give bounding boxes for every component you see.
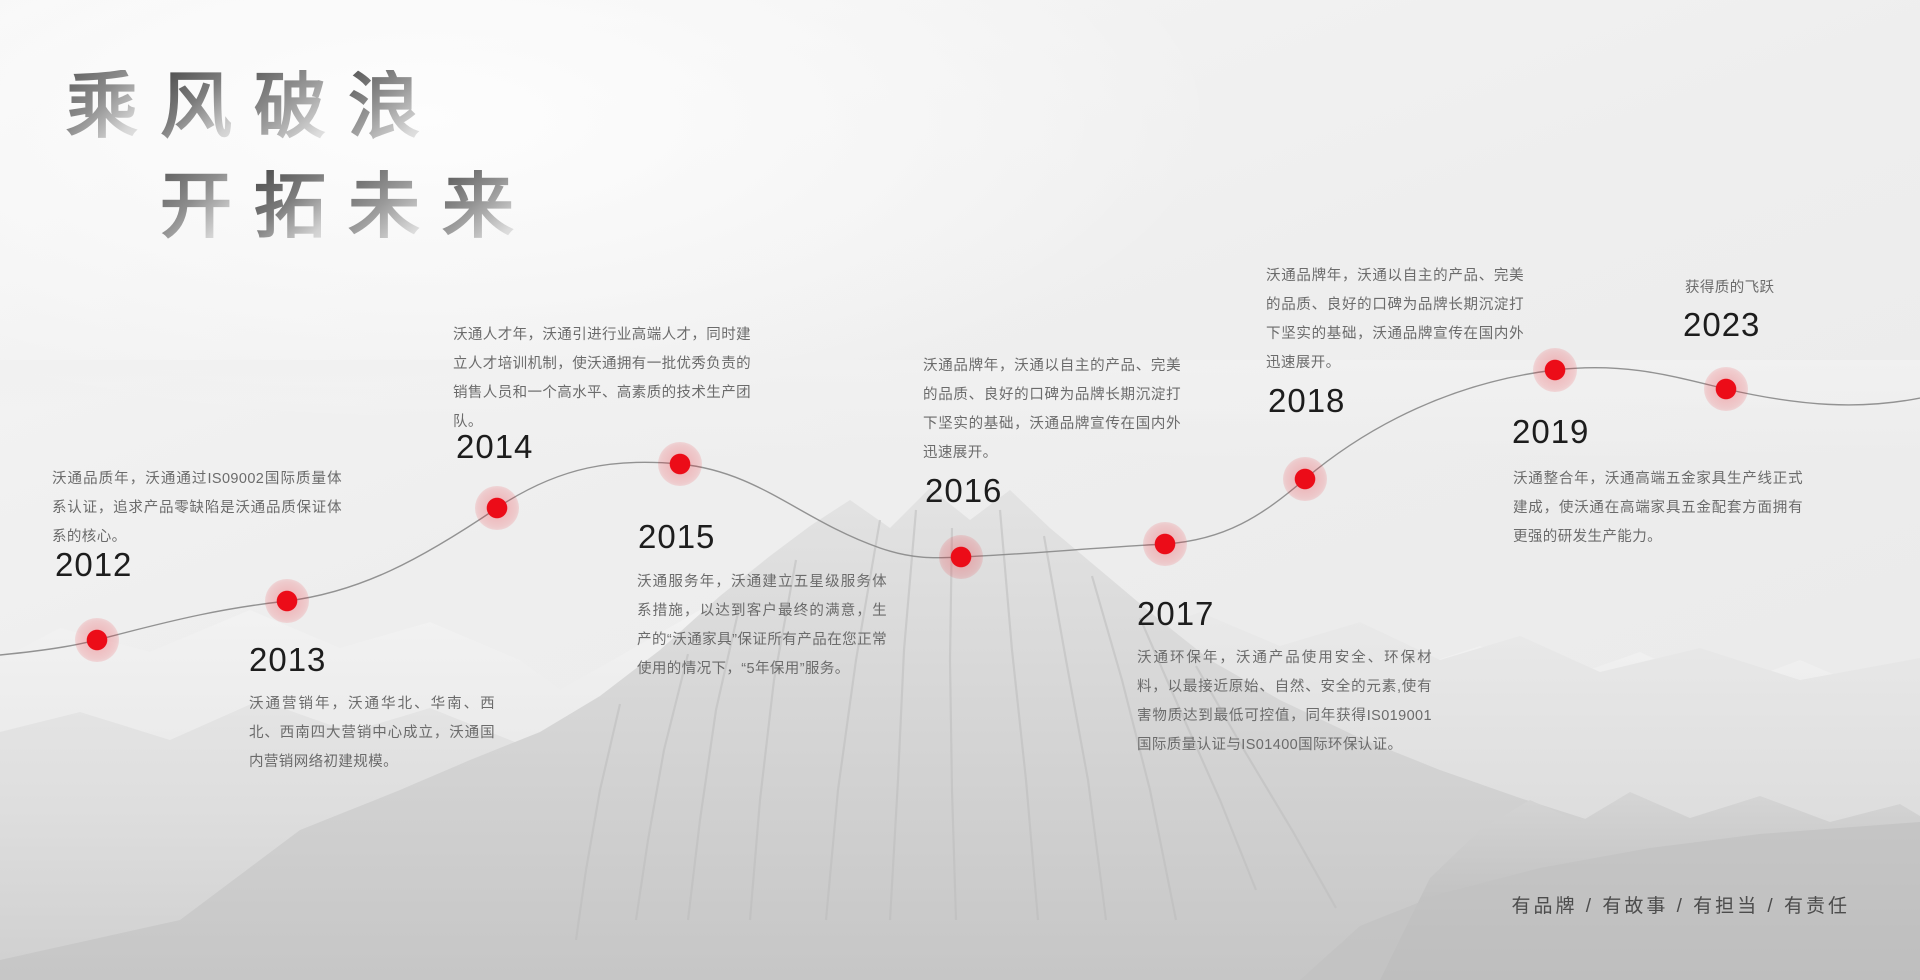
timeline-year-2015: 2015 (638, 518, 715, 556)
timeline-year-2023: 2023 (1683, 306, 1760, 344)
timeline-description-2017: 沃通环保年，沃通产品使用安全、环保材料，以最接近原始、自然、安全的元素,使有害物… (1137, 644, 1432, 760)
timeline-description-2014: 沃通人才年，沃通引进行业高端人才，同时建立人才培训机制，使沃通拥有一批优秀负责的… (453, 321, 751, 437)
timeline-description-2018: 沃通品牌年，沃通以自主的产品、完美的品质、良好的口碑为品牌长期沉淀打下坚实的基础… (1266, 262, 1524, 378)
timeline-description-2013: 沃通营销年，沃通华北、华南、西北、西南四大营销中心成立，沃通国内营销网络初建规模… (249, 690, 495, 777)
timeline-description-2016: 沃通品牌年，沃通以自主的产品、完美的品质、良好的口碑为品牌长期沉淀打下坚实的基础… (923, 352, 1181, 468)
timeline-description-2015: 沃通服务年，沃通建立五星级服务体系措施，以达到客户最终的满意，生产的“沃通家具”… (637, 568, 887, 684)
timeline-description-2023: 获得质的飞跃 (1685, 274, 1774, 303)
timeline-dot-2023[interactable] (1704, 367, 1748, 411)
timeline-dot-2015[interactable] (658, 442, 702, 486)
timeline-dot-2014[interactable] (475, 486, 519, 530)
timeline-description-2019: 沃通整合年，沃通高端五金家具生产线正式建成，使沃通在高端家具五金配套方面拥有更强… (1513, 465, 1803, 552)
timeline-year-2013: 2013 (249, 641, 326, 679)
timeline-year-2016: 2016 (925, 472, 1002, 510)
footer-tagline: 有品牌 / 有故事 / 有担当 / 有责任 (1511, 891, 1850, 918)
timeline-description-2012: 沃通品质年，沃通通过IS09002国际质量体系认证，追求产品零缺陷是沃通品质保证… (52, 465, 342, 552)
timeline-dot-2016[interactable] (939, 535, 983, 579)
timeline: 2012 沃通品质年，沃通通过IS09002国际质量体系认证，追求产品零缺陷是沃… (0, 0, 1920, 980)
timeline-year-2017: 2017 (1137, 595, 1214, 633)
timeline-year-2018: 2018 (1268, 382, 1345, 420)
timeline-dot-2019[interactable] (1533, 348, 1577, 392)
timeline-dot-2017[interactable] (1143, 522, 1187, 566)
timeline-dot-2012[interactable] (75, 618, 119, 662)
timeline-year-2019: 2019 (1512, 413, 1589, 451)
slide-canvas: 乘风破浪 开拓未来 2012 沃通品质年，沃通通过IS09002国际质量体系认证… (0, 0, 1920, 980)
timeline-dot-2018[interactable] (1283, 457, 1327, 501)
timeline-dot-2013[interactable] (265, 579, 309, 623)
